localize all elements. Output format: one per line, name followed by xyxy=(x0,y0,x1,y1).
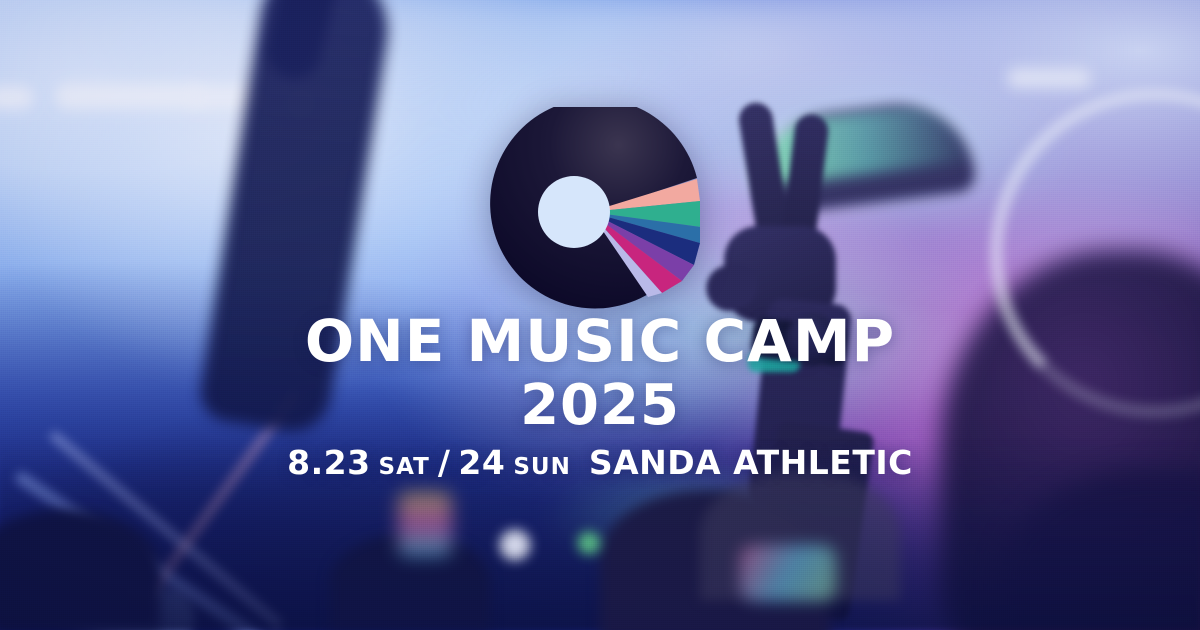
date-venue-line: 8.23SAT/24SUNSANDA ATHLETIC xyxy=(0,446,1200,479)
festival-key-visual: ONE MUSIC CAMP 2025 8.23SAT/24SUNSANDA A… xyxy=(0,0,1200,630)
one-music-camp-logo xyxy=(490,107,700,317)
festival-title: ONE MUSIC CAMP xyxy=(0,312,1200,370)
date-day2-weekday: SUN xyxy=(513,454,571,480)
title-block: ONE MUSIC CAMP 2025 8.23SAT/24SUNSANDA A… xyxy=(0,312,1200,479)
date-day1-weekday: SAT xyxy=(379,454,430,480)
venue-name: SANDA ATHLETIC xyxy=(589,443,913,482)
logo-inner-hole xyxy=(538,176,610,248)
festival-year: 2025 xyxy=(0,378,1200,434)
date-separator: / xyxy=(438,443,451,482)
date-day1-number: 8.23 xyxy=(287,443,370,482)
date-day2-number: 24 xyxy=(458,443,505,482)
